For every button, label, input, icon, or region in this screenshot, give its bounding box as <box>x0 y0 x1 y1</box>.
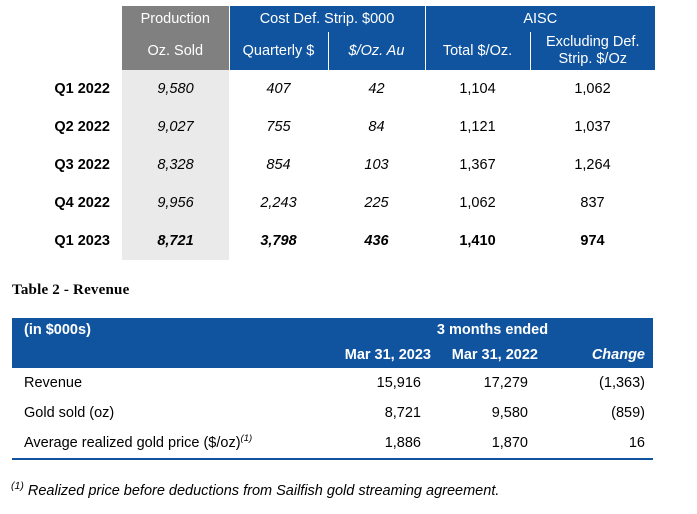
table2-cell-change: (1,363) <box>546 368 653 398</box>
table1-col-dollars-per-oz-au: $/Oz. Au <box>328 32 425 70</box>
table1-cell-quarterly-dollars: 854 <box>229 146 328 184</box>
table2-cell-current: 15,916 <box>332 368 439 398</box>
table1-row-label: Q3 2022 <box>0 146 122 184</box>
table1-cell-oz-sold: 9,027 <box>122 108 229 146</box>
table1-row: Q2 2022 9,027 755 84 1,121 1,037 <box>0 108 655 146</box>
footnote: (1) Realized price before deductions fro… <box>11 480 499 499</box>
table2-title: Table 2 - Revenue <box>12 282 129 299</box>
table2-row-label: Revenue <box>12 368 332 398</box>
table1-cell-aisc-excluding: 1,037 <box>530 108 655 146</box>
table1-row: Q4 2022 9,956 2,243 225 1,062 837 <box>0 184 655 222</box>
table1-row-label: Q1 2023 <box>0 222 122 260</box>
table2-col-change: Change <box>546 343 653 368</box>
table1-col-aisc-excluding: Excluding Def. Strip. $/Oz <box>530 32 655 70</box>
table1-col-quarterly-dollars: Quarterly $ <box>229 32 328 70</box>
table1-cell-dollars-per-oz-au: 103 <box>328 146 425 184</box>
table1-cell-quarterly-dollars: 407 <box>229 70 328 108</box>
table1-corner-cell <box>0 6 122 32</box>
table1-col-aisc-total: Total $/Oz. <box>425 32 530 70</box>
table2-cell-prior: 9,580 <box>439 398 546 428</box>
table2-header-row-1: (in $000s) 3 months ended <box>12 318 653 343</box>
table2-period-label: 3 months ended <box>332 318 653 343</box>
table1-col-oz-sold: Oz. Sold <box>122 32 229 70</box>
table1-cell-aisc-excluding: 1,062 <box>530 70 655 108</box>
table1-group-production: Production <box>122 6 229 32</box>
table2-cell-prior: 17,279 <box>439 368 546 398</box>
table2-cell-current: 1,886 <box>332 428 439 459</box>
table2-cell-current: 8,721 <box>332 398 439 428</box>
table1-cell-aisc-total: 1,367 <box>425 146 530 184</box>
table2-row-label: Gold sold (oz) <box>12 398 332 428</box>
table2: (in $000s) 3 months ended Mar 31, 2023 M… <box>12 318 653 460</box>
table1-cell-dollars-per-oz-au: 84 <box>328 108 425 146</box>
table1: Production Cost Def. Strip. $000 AISC Oz… <box>0 6 655 260</box>
table1-group-aisc: AISC <box>425 6 655 32</box>
table2-row: Revenue 15,916 17,279 (1,363) <box>12 368 653 398</box>
table2-row-label-text: Average realized gold price ($/oz) <box>24 435 241 451</box>
table1-cell-quarterly-dollars: 2,243 <box>229 184 328 222</box>
footnote-marker: (1) <box>11 480 24 492</box>
table1-sub-header-row: Oz. Sold Quarterly $ $/Oz. Au Total $/Oz… <box>0 32 655 70</box>
table1-group-cost-def-strip: Cost Def. Strip. $000 <box>229 6 425 32</box>
table1-cell-aisc-excluding: 974 <box>530 222 655 260</box>
table1-cell-aisc-total: 1,121 <box>425 108 530 146</box>
table2-cell-change: (859) <box>546 398 653 428</box>
table2-units-label: (in $000s) <box>12 318 332 343</box>
table2-row: Average realized gold price ($/oz)(1) 1,… <box>12 428 653 459</box>
table1-row-label: Q4 2022 <box>0 184 122 222</box>
table1-cell-dollars-per-oz-au: 436 <box>328 222 425 260</box>
table1-row-label: Q2 2022 <box>0 108 122 146</box>
table2-row-label: Average realized gold price ($/oz)(1) <box>12 428 332 459</box>
table1-cell-dollars-per-oz-au: 42 <box>328 70 425 108</box>
table1-cell-quarterly-dollars: 3,798 <box>229 222 328 260</box>
table1-group-header-row: Production Cost Def. Strip. $000 AISC <box>0 6 655 32</box>
table1-cell-aisc-total: 1,104 <box>425 70 530 108</box>
table1-cell-aisc-excluding: 1,264 <box>530 146 655 184</box>
table1-cell-dollars-per-oz-au: 225 <box>328 184 425 222</box>
table1-row: Q3 2022 8,328 854 103 1,367 1,264 <box>0 146 655 184</box>
table1-cell-oz-sold: 8,721 <box>122 222 229 260</box>
table1-subcorner-cell <box>0 32 122 70</box>
table1-row-current-quarter: Q1 2023 8,721 3,798 436 1,410 974 <box>0 222 655 260</box>
table2-cell-change: 16 <box>546 428 653 459</box>
table2-cell-prior: 1,870 <box>439 428 546 459</box>
footnote-text: Realized price before deductions from Sa… <box>28 483 500 499</box>
table2-header-spacer <box>12 343 332 368</box>
table1-row-label: Q1 2022 <box>0 70 122 108</box>
table1-cell-aisc-excluding: 837 <box>530 184 655 222</box>
table1-cell-oz-sold: 9,580 <box>122 70 229 108</box>
table2-col-prior-period: Mar 31, 2022 <box>439 343 546 368</box>
production-cost-aisc-table: Production Cost Def. Strip. $000 AISC Oz… <box>0 6 697 260</box>
table1-cell-aisc-total: 1,410 <box>425 222 530 260</box>
table2-row: Gold sold (oz) 8,721 9,580 (859) <box>12 398 653 428</box>
table2-col-current-period: Mar 31, 2023 <box>332 343 439 368</box>
revenue-table: (in $000s) 3 months ended Mar 31, 2023 M… <box>12 318 653 460</box>
table1-cell-oz-sold: 8,328 <box>122 146 229 184</box>
table1-cell-aisc-total: 1,062 <box>425 184 530 222</box>
table1-cell-quarterly-dollars: 755 <box>229 108 328 146</box>
table1-row: Q1 2022 9,580 407 42 1,104 1,062 <box>0 70 655 108</box>
footnote-marker-inline: (1) <box>241 433 253 444</box>
table1-cell-oz-sold: 9,956 <box>122 184 229 222</box>
table2-header-row-2: Mar 31, 2023 Mar 31, 2022 Change <box>12 343 653 368</box>
